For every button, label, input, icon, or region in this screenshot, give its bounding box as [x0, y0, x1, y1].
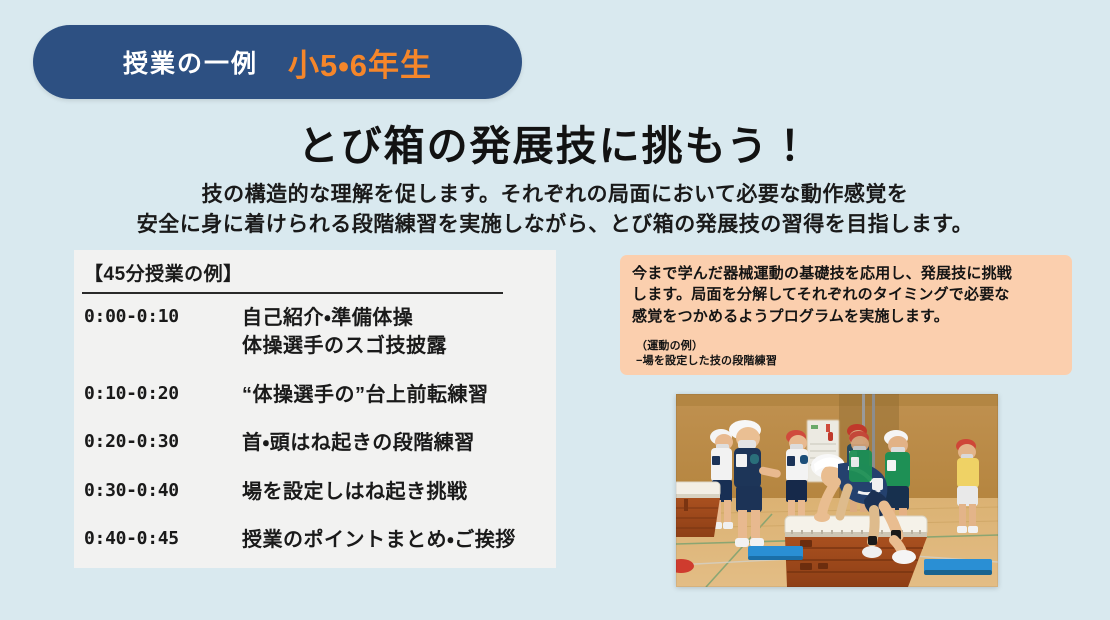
page-subtitle: 技の構造的な理解を促します。それぞれの局面において必要な動作感覚を安全に身に着け… [0, 180, 1110, 241]
schedule-panel: 【45分授業の例】 0:00-0:10自己紹介・準備体操体操選手のスゴ技披露0:… [74, 250, 556, 568]
schedule-description: 首・頭はね起きの段階練習 [242, 429, 556, 457]
schedule-time: 0:20-0:30 [74, 429, 242, 452]
schedule-description-line: 首・頭はね起きの段階練習 [242, 429, 556, 457]
callout-note-line-2: −場を設定した技の段階練習 [636, 354, 1062, 369]
schedule-time: 0:30-0:40 [74, 478, 242, 501]
schedule-row: 0:20-0:30首・頭はね起きの段階練習 [74, 429, 556, 457]
callout-body-line-3: 感覚をつかめるようプログラムを実施します。 [632, 306, 1062, 327]
schedule-description-line: 場を設定しはね起き挑戦 [242, 478, 556, 506]
schedule-description: “体操選手の”台上前転練習 [242, 381, 556, 409]
callout-body-line-2: します。局面を分解してそれぞれのタイミングで必要な [632, 284, 1062, 305]
headline-block: とび箱の発展技に挑もう！ 技の構造的な理解を促します。それぞれの局面において必要… [0, 124, 1110, 241]
schedule-row: 0:40-0:45授業のポイントまとめ・ご挨拶 [74, 526, 556, 554]
schedule-description: 授業のポイントまとめ・ご挨拶 [242, 526, 556, 554]
callout-body-text: 今まで学んだ器械運動の基礎技を応用し、発展技に挑戦します。局面を分解してそれぞれ… [632, 263, 1062, 327]
callout-note-line-1: （運動の例） [636, 339, 1062, 354]
schedule-time: 0:10-0:20 [74, 381, 242, 404]
schedule-title: 【45分授業の例】 [84, 259, 243, 286]
badge-grade-label: 小5・6年生 [288, 40, 432, 85]
callout-note-text: （運動の例）−場を設定した技の段階練習 [632, 339, 1062, 369]
schedule-divider [82, 292, 503, 294]
schedule-description: 場を設定しはね起き挑戦 [242, 478, 556, 506]
schedule-time: 0:40-0:45 [74, 526, 242, 549]
schedule-description-line: 授業のポイントまとめ・ご挨拶 [242, 526, 556, 554]
schedule-description-line: 自己紹介・準備体操 [242, 304, 556, 332]
gymnasium-photo-illustration [676, 394, 998, 587]
page-title: とび箱の発展技に挑もう！ [0, 124, 1110, 170]
program-description-callout: 今まで学んだ器械運動の基礎技を応用し、発展技に挑戦します。局面を分解してそれぞれ… [620, 255, 1072, 375]
schedule-description-line: “体操選手の”台上前転練習 [242, 381, 556, 409]
lesson-photo [676, 394, 998, 587]
lesson-example-badge: 授業の一例 小5・6年生 [33, 25, 522, 99]
subtitle-line-2: 安全に身に着けられる段階練習を実施しながら、とび箱の発展技の習得を目指します。 [0, 210, 1110, 240]
subtitle-line-1: 技の構造的な理解を促します。それぞれの局面において必要な動作感覚を [0, 180, 1110, 210]
schedule-row: 0:30-0:40場を設定しはね起き挑戦 [74, 478, 556, 506]
badge-label: 授業の一例 [123, 44, 258, 80]
schedule-description-line: 体操選手のスゴ技披露 [242, 332, 556, 360]
schedule-row: 0:10-0:20“体操選手の”台上前転練習 [74, 381, 556, 409]
callout-body-line-1: 今まで学んだ器械運動の基礎技を応用し、発展技に挑戦 [632, 263, 1062, 284]
schedule-time: 0:00-0:10 [74, 304, 242, 327]
schedule-description: 自己紹介・準備体操体操選手のスゴ技披露 [242, 304, 556, 361]
schedule-row: 0:00-0:10自己紹介・準備体操体操選手のスゴ技披露 [74, 304, 556, 361]
schedule-row-list: 0:00-0:10自己紹介・準備体操体操選手のスゴ技披露0:10-0:20“体操… [74, 304, 556, 574]
